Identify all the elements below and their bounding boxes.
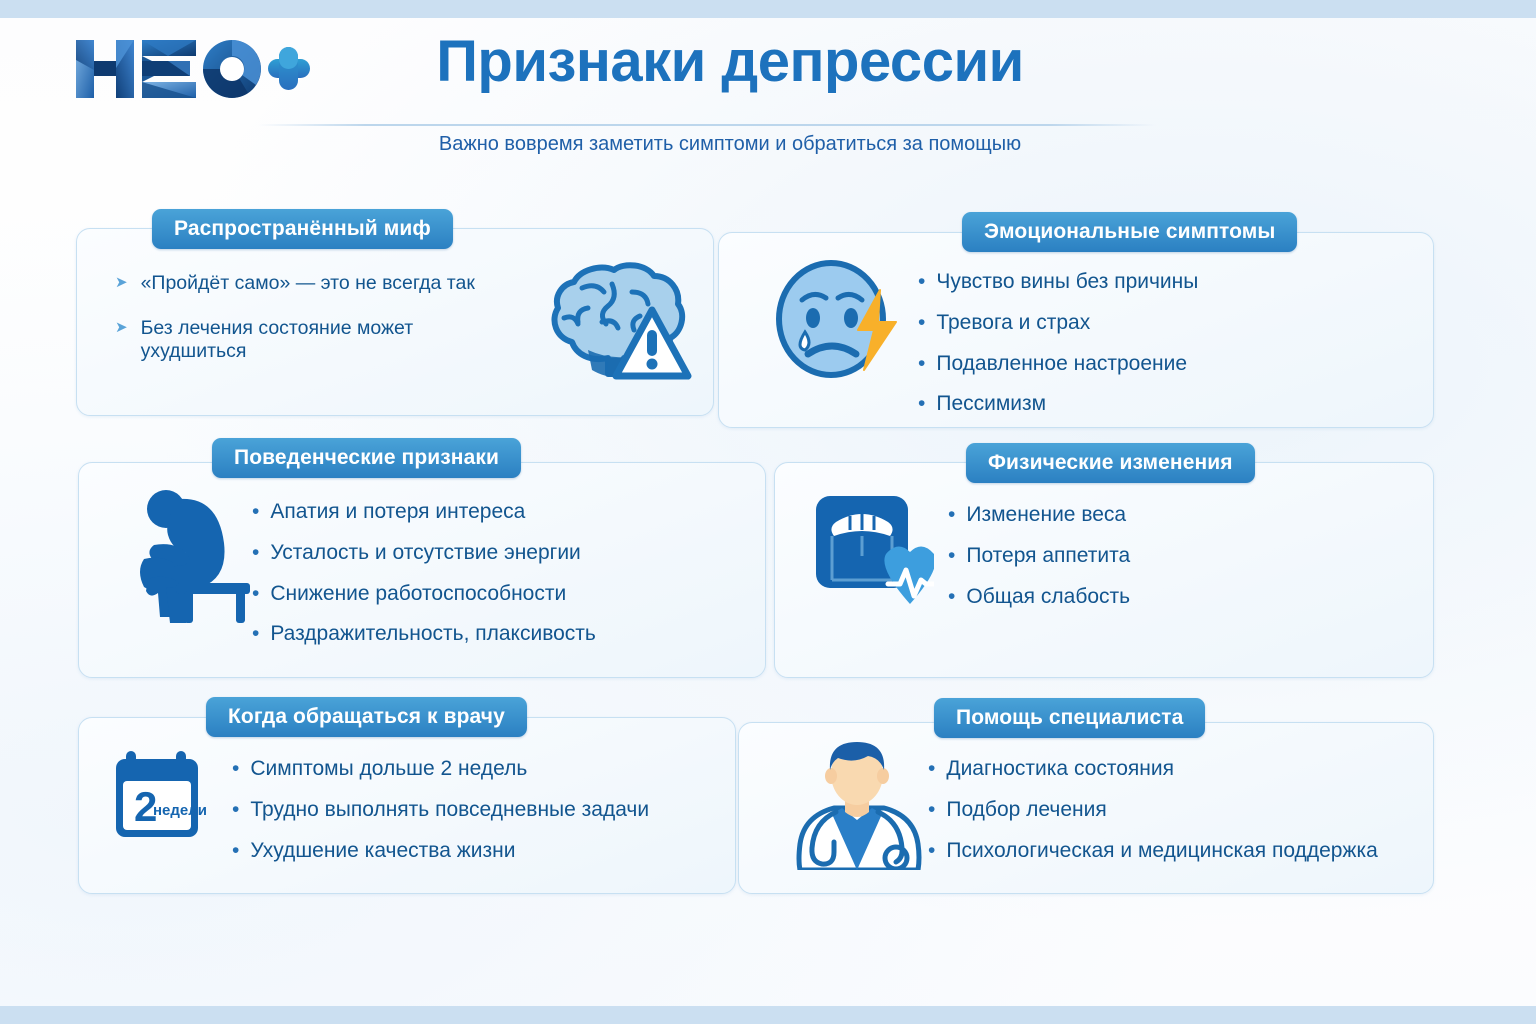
dot-bullet-icon: • [252, 501, 259, 522]
list-item-label: Психологическая и медицинская поддержка [946, 839, 1377, 864]
infographic-page: Признаки депрессии Важно вовремя заметит… [0, 0, 1536, 1024]
card-specialist-list: • Диагностика состояния • Подбор лечения… [928, 757, 1428, 879]
list-item: • Пессимизм [918, 392, 1398, 417]
dot-bullet-icon: • [232, 799, 239, 820]
doctor-icon [790, 738, 924, 875]
arrow-bullet-icon: ➤ [115, 320, 128, 335]
svg-text:недели: недели [153, 802, 207, 819]
list-item-label: Диагностика состояния [946, 757, 1174, 782]
top-edge-band [0, 0, 1536, 18]
card-when-list: • Симптомы дольше 2 недель • Трудно выпо… [232, 757, 702, 879]
card-emotional-badge: Эмоциональные симптомы [962, 212, 1297, 252]
dot-bullet-icon: • [252, 542, 259, 563]
list-item-label: Потеря аппетита [966, 544, 1130, 569]
list-item: • Изменение веса [948, 503, 1378, 528]
card-myth-list: ➤ «Пройдёт само» — это не всегда так ➤ Б… [115, 272, 515, 385]
sad-face-lightning-icon [772, 256, 902, 389]
list-item-label: Подбор лечения [946, 798, 1106, 823]
dot-bullet-icon: • [928, 758, 935, 779]
dot-bullet-icon: • [918, 393, 925, 414]
dot-bullet-icon: • [928, 799, 935, 820]
list-item: • Симптомы дольше 2 недель [232, 757, 702, 782]
dot-bullet-icon: • [252, 583, 259, 604]
list-item-label: Снижение работоспособности [270, 582, 566, 607]
bottom-edge-band [0, 1006, 1536, 1024]
brain-warning-icon [528, 258, 698, 395]
list-item-label: Раздражительность, плаксивость [270, 622, 596, 647]
card-myth-badge: Распространённый миф [152, 209, 453, 249]
list-item: • Подбор лечения [928, 798, 1428, 823]
list-item: • Усталость и отсутствие энергии [252, 541, 682, 566]
list-item-label: Общая слабость [966, 585, 1130, 610]
list-item-label: Без лечения состояние может ухудшиться [141, 317, 515, 363]
list-item: • Психологическая и медицинская поддержк… [928, 839, 1428, 864]
list-item-label: Подавленное настроение [936, 352, 1187, 377]
list-item-label: Симптомы дольше 2 недель [250, 757, 527, 782]
list-item-label: Изменение веса [966, 503, 1126, 528]
list-item: • Апатия и потеря интереса [252, 500, 682, 525]
list-item: ➤ Без лечения состояние может ухудшиться [115, 317, 515, 363]
dot-bullet-icon: • [948, 504, 955, 525]
card-when-badge: Когда обращаться к врачу [206, 697, 527, 737]
card-specialist-badge: Помощь специалиста [934, 698, 1205, 738]
list-item-label: Трудно выполнять повседневные задачи [250, 798, 649, 823]
page-subtitle: Важно вовремя заметить симптоми и обрати… [300, 133, 1160, 156]
list-item: • Чувство вины без причины [918, 270, 1398, 295]
list-item-label: «Пройдёт само» — это не всегда так [141, 272, 475, 295]
list-item: • Раздражительность, плаксивость [252, 622, 682, 647]
dot-bullet-icon: • [918, 312, 925, 333]
brand-logo [72, 30, 312, 108]
card-behavioral-badge: Поведенческие признаки [212, 438, 521, 478]
header-divider [258, 124, 1156, 126]
list-item: • Трудно выполнять повседневные задачи [232, 798, 702, 823]
list-item: • Диагностика состояния [928, 757, 1428, 782]
list-item-label: Усталость и отсутствие энергии [270, 541, 580, 566]
list-item: • Тревога и страх [918, 311, 1398, 336]
list-item: • Потеря аппетита [948, 544, 1378, 569]
list-item-label: Чувство вины без причины [936, 270, 1198, 295]
list-item: ➤ «Пройдёт само» — это не всегда так [115, 272, 515, 295]
dot-bullet-icon: • [232, 840, 239, 861]
sitting-sad-person-icon [136, 483, 254, 628]
list-item-label: Тревога и страх [936, 311, 1090, 336]
calendar-two-weeks-icon: 2 недели [112, 747, 216, 848]
dot-bullet-icon: • [948, 586, 955, 607]
dot-bullet-icon: • [232, 758, 239, 779]
dot-bullet-icon: • [928, 840, 935, 861]
card-physical-list: • Изменение веса • Потеря аппетита • Общ… [948, 503, 1378, 625]
dot-bullet-icon: • [918, 353, 925, 374]
arrow-bullet-icon: ➤ [115, 275, 128, 290]
card-physical-badge: Физические изменения [966, 443, 1255, 483]
list-item-label: Апатия и потеря интереса [270, 500, 525, 525]
scale-heart-pulse-icon [812, 492, 934, 615]
list-item-label: Пессимизм [936, 392, 1046, 417]
list-item: • Подавленное настроение [918, 352, 1398, 377]
card-emotional-list: • Чувство вины без причины • Тревога и с… [918, 270, 1398, 433]
page-title: Признаки депрессии [330, 32, 1130, 93]
list-item-label: Ухудшение качества жизни [250, 839, 515, 864]
card-behavioral-list: • Апатия и потеря интереса • Усталость и… [252, 500, 682, 663]
list-item: • Общая слабость [948, 585, 1378, 610]
list-item: • Снижение работоспособности [252, 582, 682, 607]
list-item: • Ухудшение качества жизни [232, 839, 702, 864]
dot-bullet-icon: • [948, 545, 955, 566]
dot-bullet-icon: • [918, 271, 925, 292]
dot-bullet-icon: • [252, 623, 259, 644]
